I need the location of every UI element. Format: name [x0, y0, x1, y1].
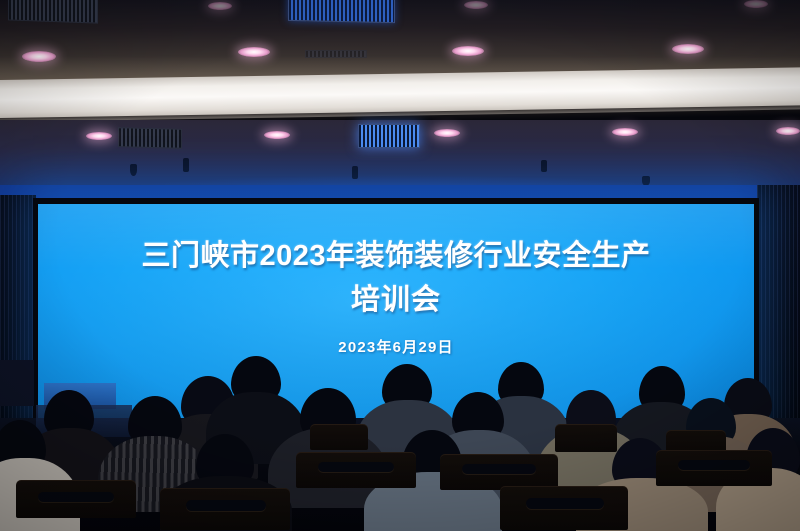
downlight-recess-3 — [744, 0, 768, 8]
downlight-3 — [452, 46, 484, 56]
lower-downlight-5 — [776, 127, 800, 135]
lower-downlight-1 — [86, 132, 112, 140]
lower-ceiling-vent-left — [118, 127, 182, 149]
downlight-recess-1 — [208, 2, 232, 10]
ceiling-speaker-2 — [183, 158, 189, 172]
downlight-2 — [238, 47, 270, 57]
ceiling-vent-center — [288, 0, 395, 23]
lower-downlight-4 — [612, 128, 638, 136]
presentation-title-line-1: 三门峡市2023年装饰装修行业安全生产 — [141, 234, 650, 278]
chair-slot-1 — [318, 462, 394, 472]
chair-slot-4 — [38, 492, 114, 502]
chair-slot-6 — [526, 498, 604, 509]
chair-slot-3 — [678, 460, 750, 470]
downlight-recess-2 — [464, 1, 488, 9]
chair-back-1 — [310, 424, 368, 450]
chair-back-2 — [555, 424, 617, 452]
ceiling-speaker-1 — [130, 164, 137, 176]
ceiling-speaker-3 — [352, 166, 358, 179]
downlight-1 — [22, 51, 56, 62]
lower-ceiling-vent-center — [358, 124, 420, 148]
downlight-4 — [672, 44, 704, 54]
chair-slot-5 — [186, 500, 266, 511]
chair-slot-2 — [462, 464, 536, 474]
lower-downlight-2 — [264, 131, 290, 139]
led-screen: 三门峡市2023年装饰装修行业安全生产 培训会 2023年6月29日 — [38, 204, 754, 421]
presentation-title-line-2: 培训会 — [351, 278, 441, 322]
lower-downlight-3 — [434, 129, 460, 137]
presentation-date: 2023年6月29日 — [338, 336, 453, 357]
ceiling-speaker-4 — [541, 160, 547, 172]
conference-hall-photo: 三门峡市2023年装饰装修行业安全生产 培训会 2023年6月29日 — [0, 0, 800, 531]
equipment-case — [0, 360, 34, 406]
ceiling-vent-faint — [305, 50, 367, 58]
ceiling-vent-left — [8, 0, 98, 24]
